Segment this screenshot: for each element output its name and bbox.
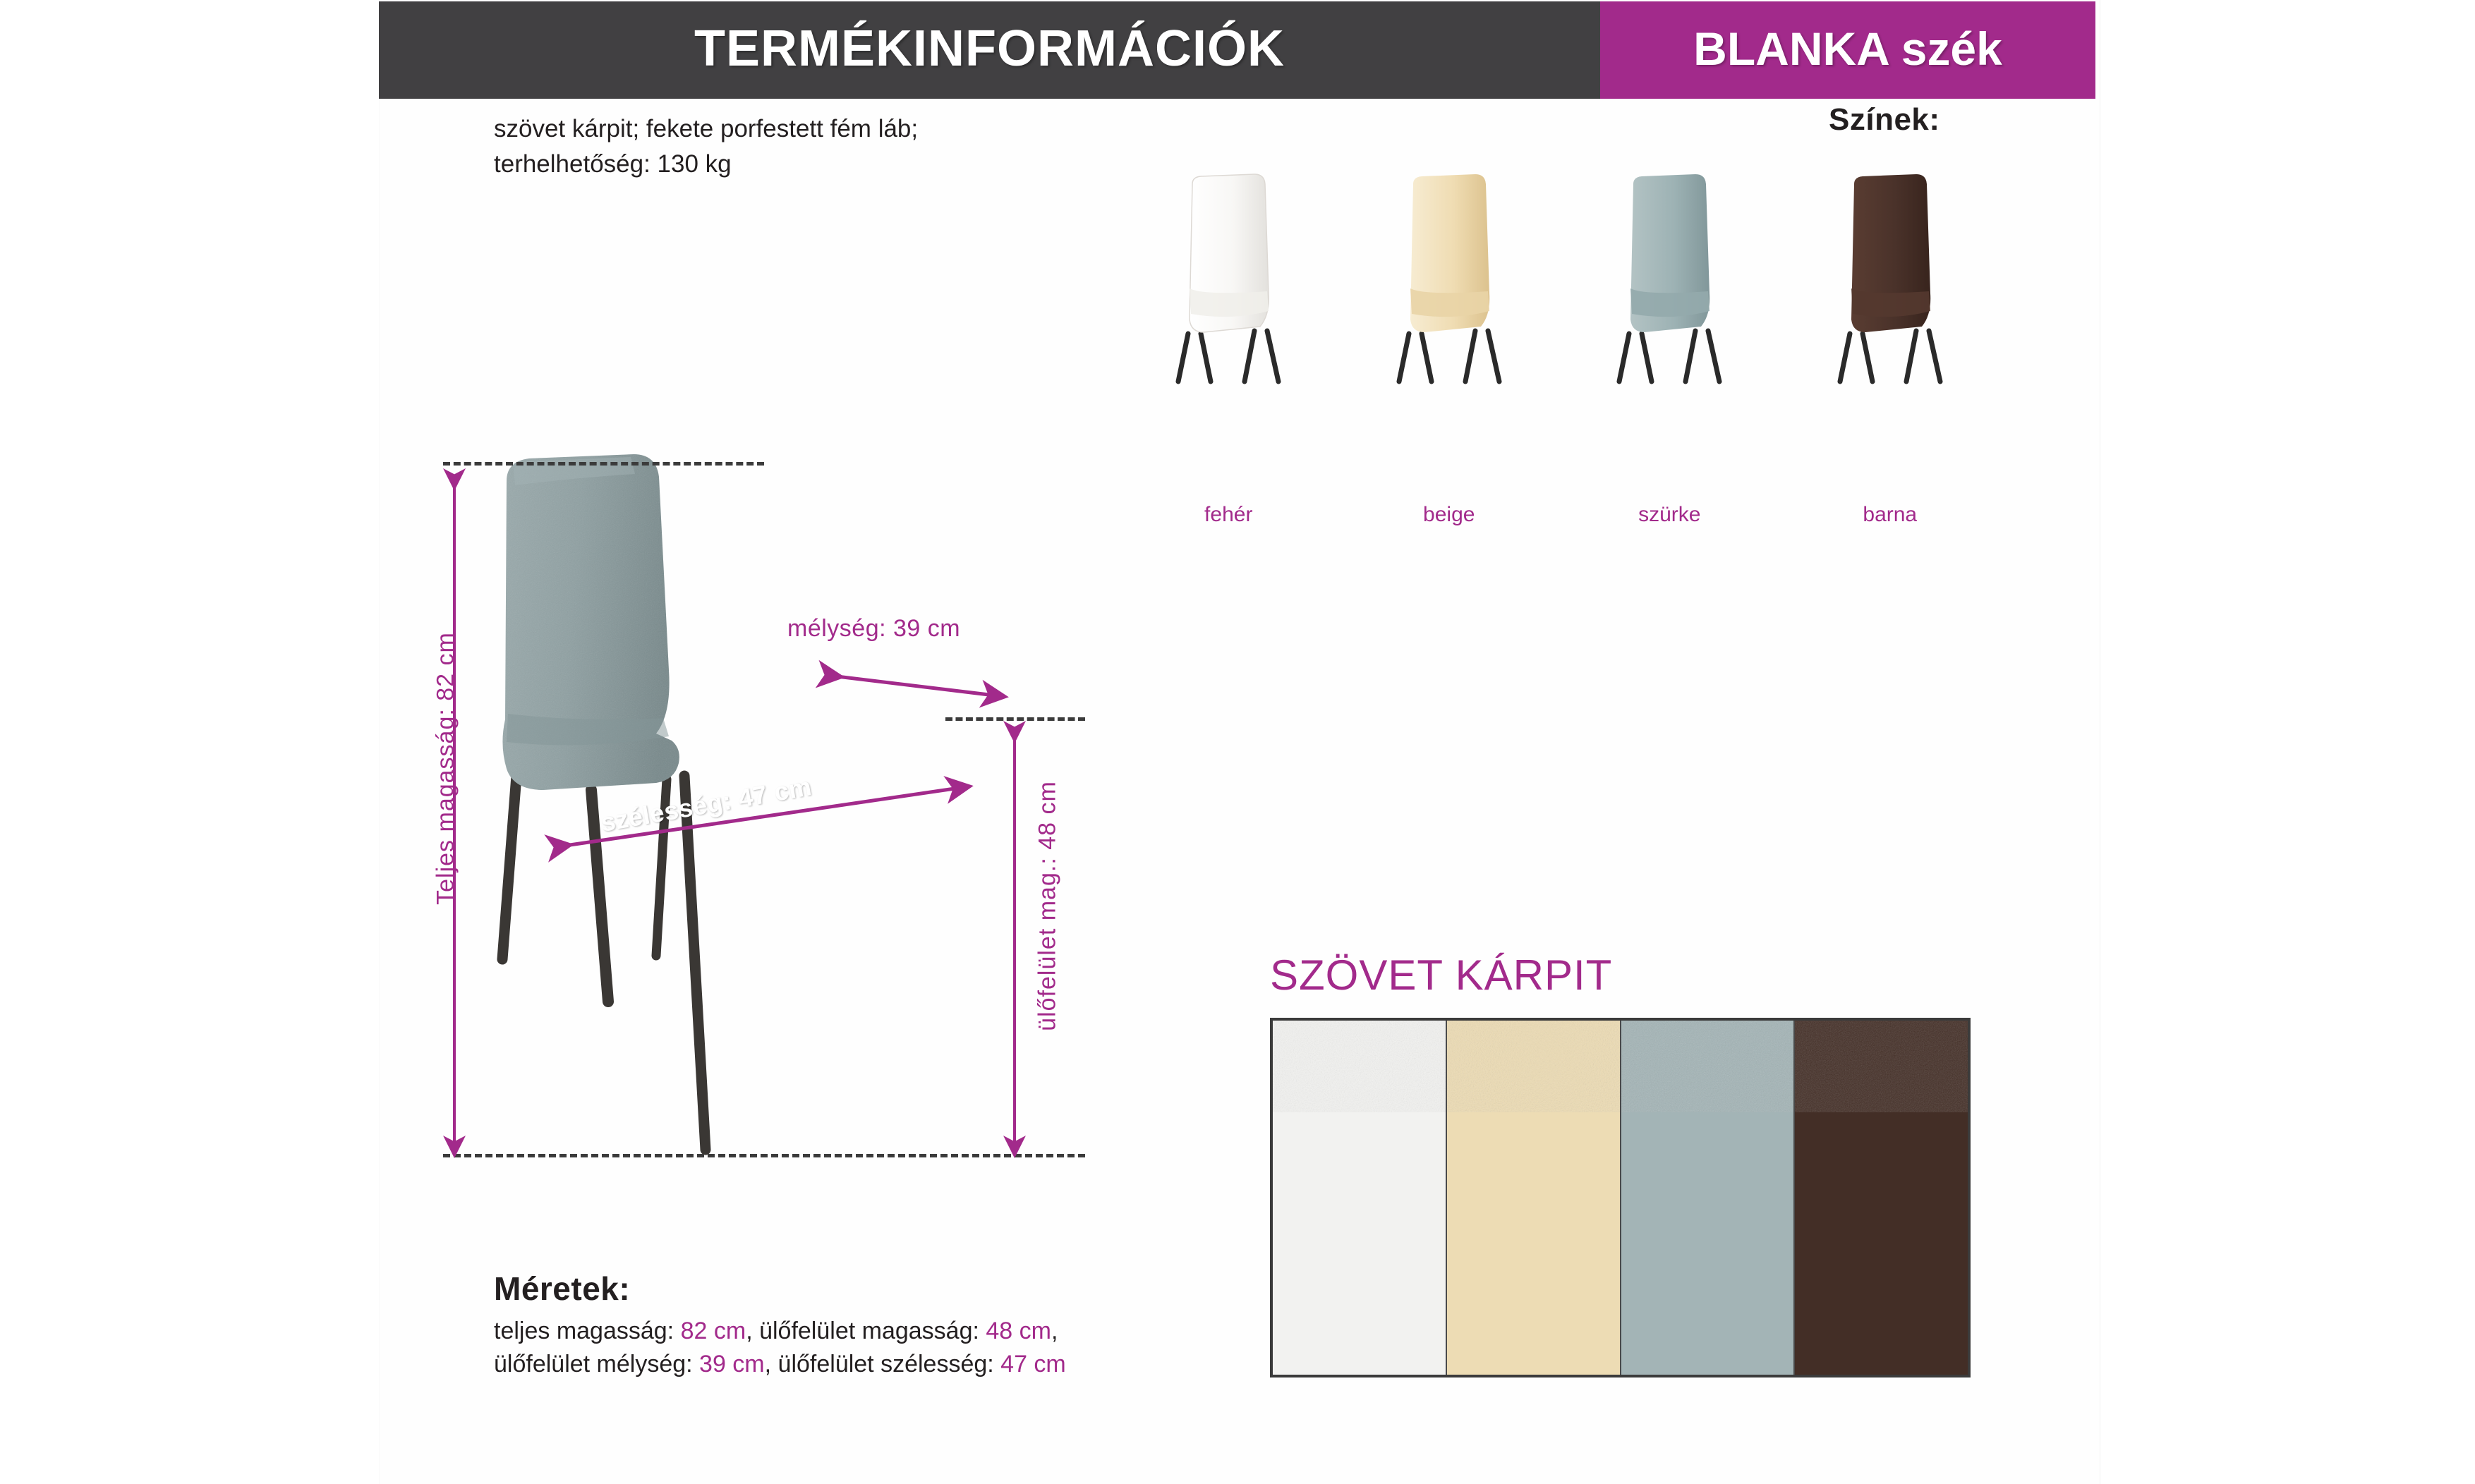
color-variant-fehér[interactable]: fehér [1118, 166, 1339, 518]
page-title: TERMÉKINFORMÁCIÓK [694, 23, 1285, 74]
product-description: szövet kárpit; fekete porfestett fém láb… [494, 111, 1199, 181]
color-variant-label: barna [1863, 503, 1917, 527]
fabric-section-heading: SZÖVET KÁRPIT [1270, 951, 1612, 999]
guide-line-seat-height [945, 717, 1085, 721]
product-name-title: BLANKA szék [1693, 25, 2002, 72]
measurements-title: Méretek: [494, 1270, 1270, 1308]
color-variant-beige[interactable]: beige [1339, 166, 1560, 518]
chair-thumbnail-szürke [1602, 170, 1736, 445]
fabric-texture [1793, 1021, 1968, 1112]
total-height-label: Teljes magasság: 82 cm [432, 522, 460, 1016]
fabric-texture [1620, 1021, 1794, 1112]
fabric-texture [1446, 1021, 1620, 1112]
chair-thumbnail-fehér [1161, 170, 1295, 445]
header-product-block: BLANKA szék [1600, 1, 2095, 99]
fabric-swatch-szürke[interactable] [1620, 1021, 1794, 1375]
meas-value-seat-width: 47 cm [1000, 1351, 1066, 1377]
color-variant-szürke[interactable]: szürke [1559, 166, 1780, 518]
meas-text: , ülőfelület magasság: [746, 1318, 986, 1344]
measurements-line-1: teljes magasság: 82 cm, ülőfelület magas… [494, 1315, 1270, 1348]
chair-thumbnail-beige [1382, 170, 1516, 445]
header-bar: TERMÉKINFORMÁCIÓK BLANKA szék [379, 1, 2095, 99]
colors-heading: Színek: [1829, 102, 1940, 138]
meas-text: , [1051, 1318, 1058, 1344]
description-line-1: szövet kárpit; fekete porfestett fém láb… [494, 111, 1199, 147]
description-line-2: terhelhetőség: 130 kg [494, 147, 1199, 182]
main-chair-illustration [423, 437, 1094, 1199]
chair-thumbnail-barna [1823, 170, 1957, 445]
fabric-swatch-fehér[interactable] [1273, 1021, 1446, 1375]
fabric-swatch-beige[interactable] [1446, 1021, 1620, 1375]
meas-value-total-height: 82 cm [681, 1318, 746, 1344]
fabric-swatch-barna[interactable] [1793, 1021, 1968, 1375]
color-variant-label: szürke [1638, 503, 1700, 527]
measurements-line-2: ülőfelület mélység: 39 cm, ülőfelület sz… [494, 1348, 1270, 1381]
fabric-swatch-row [1270, 1018, 1971, 1377]
guide-line-bottom [443, 1154, 1085, 1157]
measurements-lines: teljes magasság: 82 cm, ülőfelület magas… [494, 1315, 1270, 1381]
meas-value-seat-depth: 39 cm [699, 1351, 765, 1377]
color-variant-barna[interactable]: barna [1780, 166, 2001, 518]
seat-height-label: ülőfelület mag.: 48 cm [1034, 681, 1062, 1132]
color-variant-label: fehér [1204, 503, 1252, 527]
guide-line-top [443, 462, 764, 466]
header-title-block: TERMÉKINFORMÁCIÓK [379, 1, 1600, 99]
seat-depth-label: mélység: 39 cm [787, 615, 960, 643]
meas-text: , ülőfelület szélesség: [765, 1351, 1001, 1377]
color-variant-label: beige [1423, 503, 1475, 527]
fabric-texture [1273, 1021, 1446, 1112]
color-variants-row: fehér beige szürke [1118, 166, 2000, 518]
meas-value-seat-height: 48 cm [986, 1318, 1051, 1344]
meas-text: teljes magasság: [494, 1318, 681, 1344]
dimension-diagram: Teljes magasság: 82 cm ülőfelület mag.: … [423, 437, 1094, 1199]
measurements-block: Méretek: teljes magasság: 82 cm, ülőfelü… [494, 1270, 1270, 1381]
meas-text: ülőfelület mélység: [494, 1351, 699, 1377]
